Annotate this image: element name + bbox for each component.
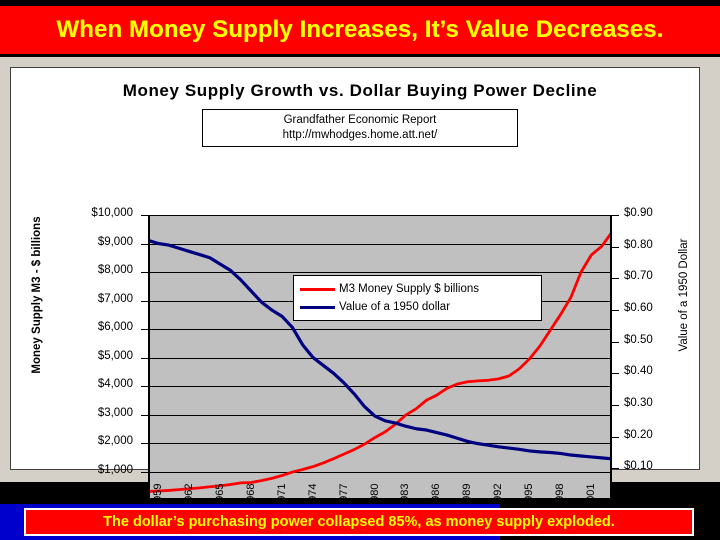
y-axis-left-label: $8,000 xyxy=(53,265,133,276)
y-axis-left-tick xyxy=(141,443,148,444)
y-axis-left-tick xyxy=(141,415,148,416)
y-axis-right-tick xyxy=(612,468,619,469)
chart-panel-background: Money Supply Growth vs. Dollar Buying Po… xyxy=(0,57,720,482)
y-axis-right-label: $0.70 xyxy=(624,271,704,282)
y-axis-left-tick xyxy=(141,472,148,473)
y-axis-right-title: Value of a 1950 Dollar xyxy=(678,195,690,395)
y-axis-left-tick xyxy=(141,386,148,387)
chart-legend: M3 Money Supply $ billions Value of a 19… xyxy=(293,275,542,321)
slide-root: When Money Supply Increases, It’s Value … xyxy=(0,0,720,540)
y-axis-right-label: $0.80 xyxy=(624,240,704,251)
y-axis-right-tick xyxy=(612,310,619,311)
y-axis-left-tick xyxy=(141,244,148,245)
x-axis-tick xyxy=(550,500,551,506)
y-axis-left-label: $2,000 xyxy=(53,436,133,447)
x-axis-tick xyxy=(581,500,582,506)
y-axis-left-tick xyxy=(141,500,148,501)
y-axis-left-label: $1,000 xyxy=(53,465,133,476)
legend-label-m3: M3 Money Supply $ billions xyxy=(339,283,479,295)
legend-item-dollar-value: Value of a 1950 dollar xyxy=(300,298,535,316)
y-axis-left-label: $- xyxy=(53,493,133,504)
y-axis-left-title: Money Supply M3 - $ billions xyxy=(31,195,43,395)
y-axis-left-label: $7,000 xyxy=(53,294,133,305)
y-axis-left-label: $6,000 xyxy=(53,322,133,333)
y-axis-right-label: $0.00 xyxy=(624,493,704,504)
y-axis-left-label: $9,000 xyxy=(53,237,133,248)
y-axis-right-label: $0.40 xyxy=(624,366,704,377)
y-axis-right-label: $0.30 xyxy=(624,398,704,409)
y-axis-right-tick xyxy=(612,405,619,406)
y-axis-left-tick xyxy=(141,301,148,302)
y-axis-right-label: $0.90 xyxy=(624,208,704,219)
source-title: Grandfather Economic Report xyxy=(284,113,437,128)
chart-title: Money Supply Growth vs. Dollar Buying Po… xyxy=(0,81,720,101)
y-axis-left-tick xyxy=(141,272,148,273)
y-axis-right-tick xyxy=(612,215,619,216)
y-axis-right-tick xyxy=(612,278,619,279)
legend-swatch-m3 xyxy=(300,288,335,291)
source-url: http://mwhodges.home.att.net/ xyxy=(283,128,438,143)
plot-area xyxy=(148,215,612,500)
y-axis-left-label: $10,000 xyxy=(53,208,133,219)
headline-banner: When Money Supply Increases, It’s Value … xyxy=(0,6,720,54)
y-axis-right-label: $0.20 xyxy=(624,430,704,441)
legend-label-dollar-value: Value of a 1950 dollar xyxy=(339,301,450,313)
series-line-dollar-value xyxy=(148,240,612,459)
footer-caption-text: The dollar’s purchasing power collapsed … xyxy=(103,514,615,530)
x-axis-tick xyxy=(509,500,510,506)
y-axis-left-label: $3,000 xyxy=(53,408,133,419)
y-axis-right-tick xyxy=(612,342,619,343)
x-axis-tick xyxy=(612,500,613,506)
y-axis-right-label: $0.60 xyxy=(624,303,704,314)
y-axis-right-label: $0.50 xyxy=(624,335,704,346)
legend-item-m3: M3 Money Supply $ billions xyxy=(300,280,535,298)
y-axis-left-label: $4,000 xyxy=(53,379,133,390)
x-axis-tick xyxy=(571,500,572,506)
source-box: Grandfather Economic Report http://mwhod… xyxy=(202,109,518,147)
x-axis-label: 1995 xyxy=(523,484,535,508)
y-axis-left-tick xyxy=(141,215,148,216)
y-axis-right-tick xyxy=(612,247,619,248)
legend-swatch-dollar-value xyxy=(300,306,335,309)
x-axis-tick xyxy=(560,500,561,506)
x-axis-label: 2004 xyxy=(616,484,628,508)
y-axis-right-label: $0.10 xyxy=(624,461,704,472)
headline-text: When Money Supply Increases, It’s Value … xyxy=(56,16,663,44)
y-axis-left-tick xyxy=(141,329,148,330)
x-axis-tick xyxy=(540,500,541,506)
y-axis-left-tick xyxy=(141,358,148,359)
x-axis-tick xyxy=(519,500,520,506)
x-axis-tick xyxy=(591,500,592,506)
footer-caption-box: The dollar’s purchasing power collapsed … xyxy=(24,508,694,536)
series-layer xyxy=(148,215,612,500)
x-axis-tick xyxy=(530,500,531,506)
y-axis-right-tick xyxy=(612,437,619,438)
y-axis-left-label: $5,000 xyxy=(53,351,133,362)
y-axis-right-tick xyxy=(612,373,619,374)
x-axis-tick xyxy=(602,500,603,506)
